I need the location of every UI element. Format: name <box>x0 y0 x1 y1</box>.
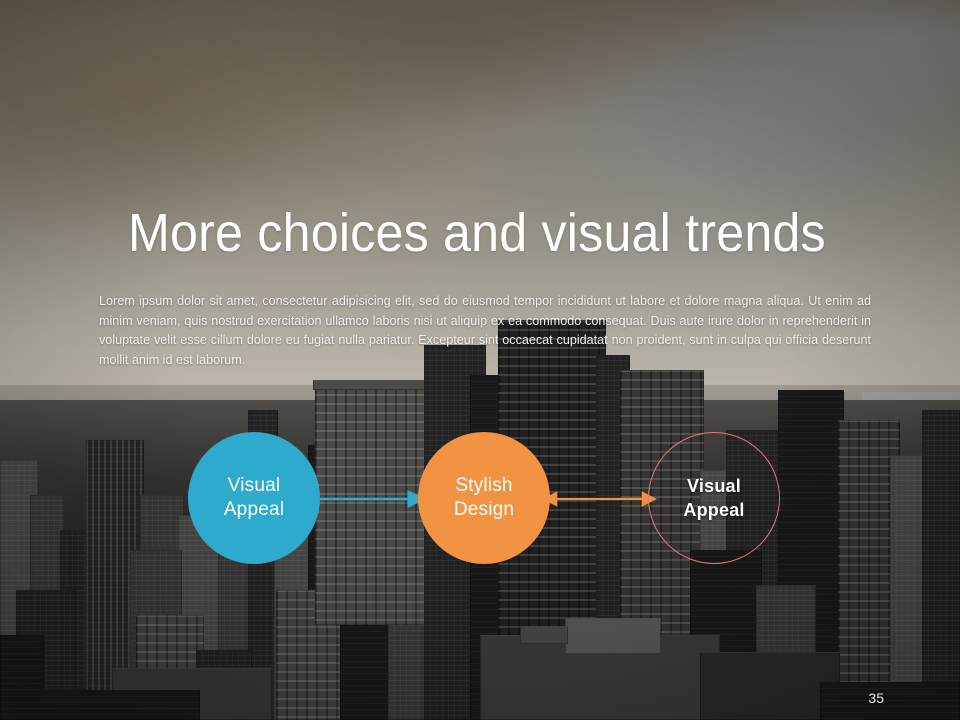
node-3-line-1: Visual <box>687 474 741 498</box>
node-3-line-2: Appeal <box>683 498 744 522</box>
node-visual-appeal-1[interactable]: Visual Appeal <box>188 432 320 564</box>
process-diagram: Visual Appeal Stylish Design Visual Appe… <box>0 0 960 720</box>
diagram-connectors <box>0 0 960 720</box>
node-2-line-1: Stylish <box>455 474 512 498</box>
node-2-line-2: Design <box>454 498 514 522</box>
slide-canvas: More choices and visual trends Lorem ips… <box>0 0 960 720</box>
node-1-line-2: Appeal <box>224 498 284 522</box>
node-1-line-1: Visual <box>228 474 281 498</box>
node-stylish-design[interactable]: Stylish Design <box>418 432 550 564</box>
node-visual-appeal-2[interactable]: Visual Appeal <box>648 432 780 564</box>
page-number: 35 <box>868 690 884 706</box>
